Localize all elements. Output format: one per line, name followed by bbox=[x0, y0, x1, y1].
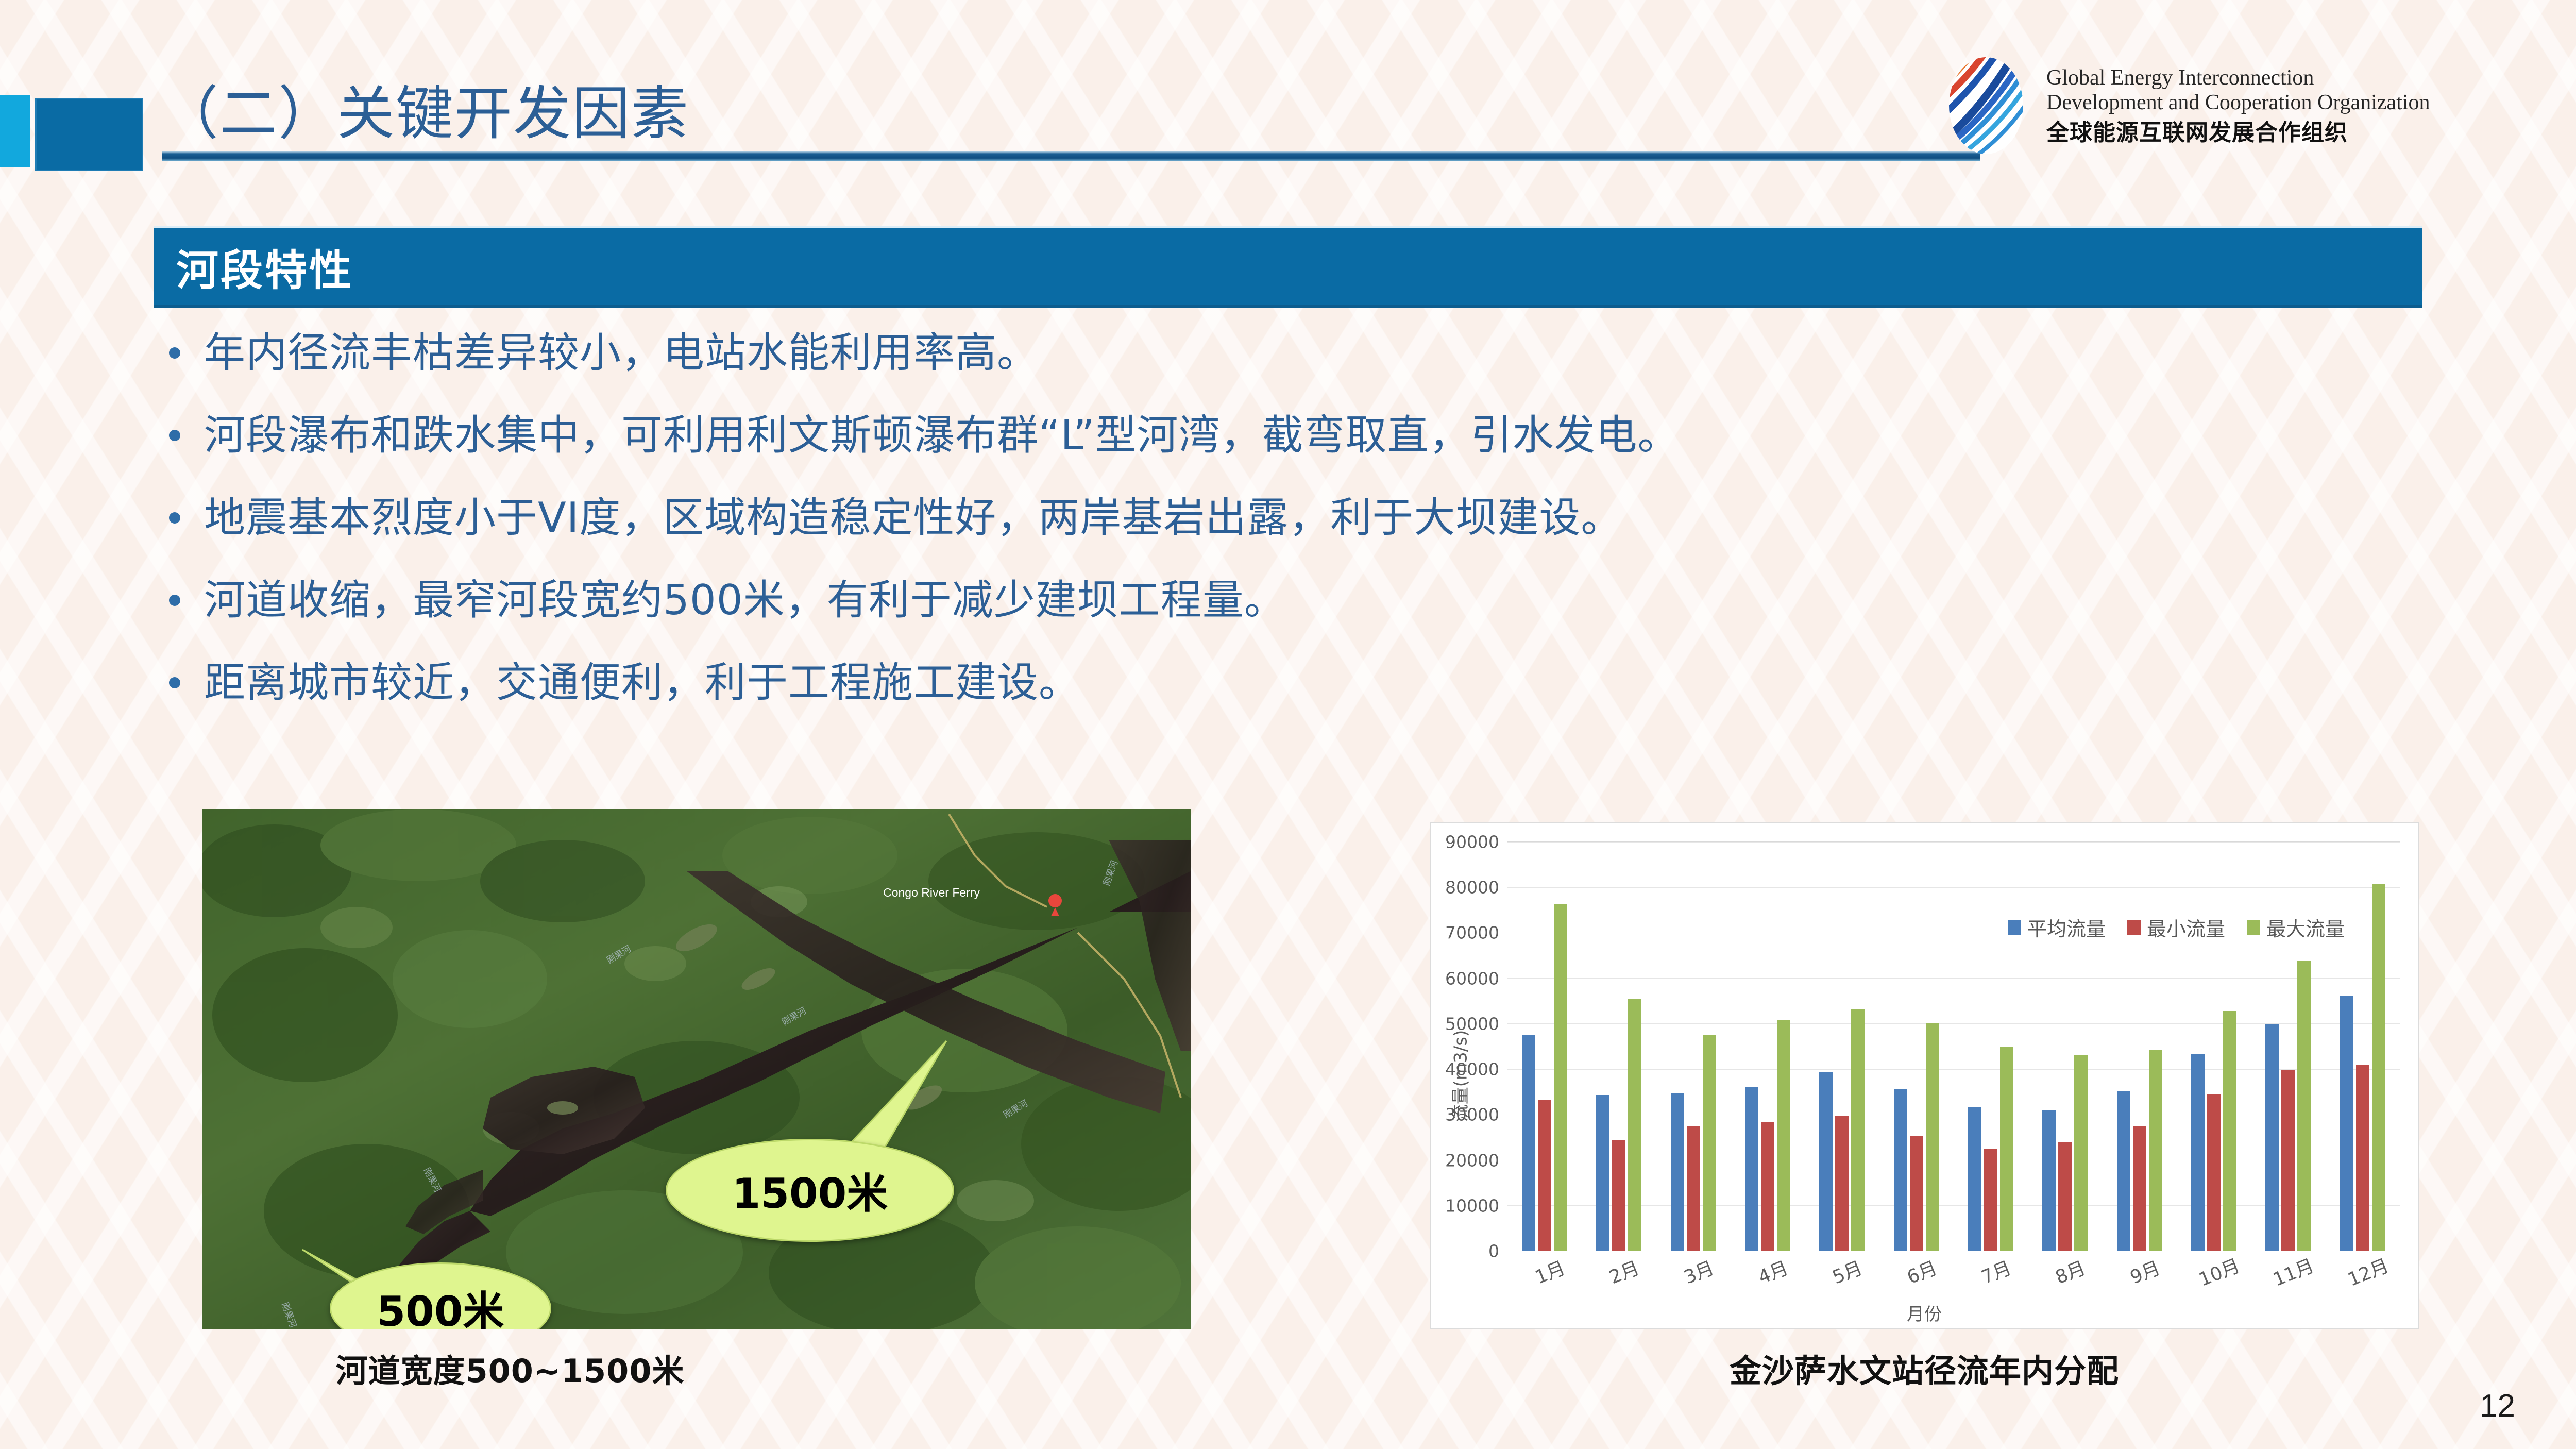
list-item: 年内径流丰枯差异较小，电站水能利用率高。 bbox=[155, 330, 2396, 412]
callout-width-1500: 1500米 bbox=[666, 1139, 954, 1242]
header-accent-blue bbox=[35, 98, 143, 171]
chart-x-tick-label: 10月 bbox=[2194, 1251, 2243, 1292]
chart-legend-swatch bbox=[2008, 920, 2021, 935]
chart-bar-max bbox=[1926, 1023, 1939, 1251]
chart-x-tick-label: 5月 bbox=[1828, 1253, 1866, 1289]
bullet-text: 地震基本烈度小于VI度，区域构造稳定性好，两岸基岩出露，利于大坝建设。 bbox=[204, 495, 1622, 541]
chart-bar-group: 3月 bbox=[1656, 842, 1731, 1251]
chart-bar-avg bbox=[1596, 1095, 1609, 1251]
chart-bar-max bbox=[2297, 961, 2311, 1251]
chart-bar-max bbox=[1703, 1035, 1716, 1251]
slide-canvas: （二）关键开发因素 bbox=[0, 0, 2576, 1449]
chart-bar-max bbox=[1554, 904, 1567, 1251]
chart-bar-group: 11月 bbox=[2251, 842, 2325, 1251]
chart-bar-group: 5月 bbox=[1805, 842, 1879, 1251]
chart-bar-avg bbox=[2042, 1110, 2056, 1251]
bullet-list: 年内径流丰枯差异较小，电站水能利用率高。 河段瀑布和跌水集中，可利用利文斯顿瀑布… bbox=[155, 330, 2396, 742]
chart-bar-avg bbox=[2191, 1054, 2205, 1251]
section-banner: 河段特性 bbox=[154, 226, 2422, 308]
chart-x-tick-label: 2月 bbox=[1605, 1253, 1643, 1289]
chart-bar-min bbox=[1910, 1136, 1923, 1251]
chart-bar-min bbox=[1761, 1122, 1774, 1251]
chart-legend-item: 平均流量 bbox=[2008, 913, 2106, 941]
chart-y-tick-label: 10000 bbox=[1445, 1195, 1507, 1216]
chart-bar-group: 9月 bbox=[2103, 842, 2177, 1251]
bullet-text: 河段瀑布和跌水集中，可利用利文斯顿瀑布群“L”型河湾，截弯取直，引水发电。 bbox=[204, 412, 1679, 459]
chart-gridline: 0 bbox=[1507, 1251, 2400, 1251]
chart-x-tick-label: 12月 bbox=[2343, 1251, 2392, 1292]
list-item: 河段瀑布和跌水集中，可利用利文斯顿瀑布群“L”型河湾，截弯取直，引水发电。 bbox=[155, 412, 2396, 495]
chart-legend-label: 最大流量 bbox=[2266, 913, 2345, 941]
chart-caption: 金沙萨水文站径流年内分配 bbox=[1730, 1345, 2119, 1391]
chart-bar-avg bbox=[1745, 1087, 1758, 1251]
chart-bar-group: 7月 bbox=[1954, 842, 2028, 1251]
chart-bar-max bbox=[2074, 1055, 2088, 1251]
photo-caption: 河道宽度500~1500米 bbox=[336, 1345, 685, 1391]
chart-y-tick-label: 80000 bbox=[1445, 878, 1507, 898]
header-accent-cyan bbox=[0, 95, 30, 167]
chart-legend-item: 最大流量 bbox=[2247, 913, 2345, 941]
list-item: 地震基本烈度小于VI度，区域构造稳定性好，两岸基岩出露，利于大坝建设。 bbox=[155, 495, 2396, 577]
chart-bar-max bbox=[2372, 884, 2385, 1251]
chart-bar-group: 4月 bbox=[1731, 842, 1805, 1251]
page-title: （二）关键开发因素 bbox=[161, 67, 689, 150]
chart-bar-avg bbox=[2265, 1024, 2279, 1251]
list-item: 河道收缩，最窄河段宽约500米，有利于减少建坝工程量。 bbox=[155, 577, 2396, 660]
globe-stripes-logo-icon bbox=[1937, 54, 2035, 157]
chart-bar-group: 8月 bbox=[2028, 842, 2102, 1251]
chart-bar-max bbox=[2000, 1047, 2013, 1251]
chart-bar-max bbox=[2149, 1050, 2162, 1251]
bullet-dot-icon bbox=[169, 347, 180, 359]
chart-y-tick-label: 40000 bbox=[1445, 1059, 1507, 1080]
chart-x-tick-label: 11月 bbox=[2269, 1251, 2318, 1292]
callout-width-1500-label: 1500米 bbox=[732, 1160, 888, 1220]
map-place-label: Congo River Ferry bbox=[883, 886, 980, 899]
chart-x-tick-label: 7月 bbox=[1977, 1253, 2015, 1289]
chart-x-tick-label: 9月 bbox=[2125, 1253, 2163, 1289]
chart-x-tick-label: 6月 bbox=[1902, 1253, 1940, 1289]
chart-y-tick-label: 90000 bbox=[1445, 832, 1507, 852]
chart-bar-max bbox=[1777, 1020, 1790, 1251]
chart-bar-max bbox=[1851, 1009, 1865, 1251]
chart-bar-avg bbox=[1671, 1093, 1684, 1251]
chart-bar-group: 2月 bbox=[1582, 842, 1656, 1251]
chart-bar-avg bbox=[1968, 1107, 1981, 1251]
chart-y-tick-label: 20000 bbox=[1445, 1150, 1507, 1170]
list-item: 距离城市较近，交通便利，利于工程施工建设。 bbox=[155, 660, 2396, 742]
bullet-dot-icon bbox=[169, 595, 180, 606]
chart-bar-max bbox=[2223, 1011, 2236, 1251]
chart-bar-min bbox=[1612, 1140, 1625, 1251]
chart-bar-groups: 1月2月3月4月5月6月7月8月9月10月11月12月 bbox=[1507, 842, 2400, 1251]
bullet-text: 距离城市较近，交通便利，利于工程施工建设。 bbox=[204, 660, 1080, 706]
chart-bar-min bbox=[2207, 1094, 2221, 1251]
chart-x-tick-label: 3月 bbox=[1680, 1253, 1718, 1289]
logo-chinese-name: 全球能源互联网发展合作组织 bbox=[2046, 120, 2430, 146]
chart-y-tick-label: 30000 bbox=[1445, 1105, 1507, 1125]
chart-x-tick-label: 1月 bbox=[1531, 1253, 1569, 1289]
bullet-text: 河道收缩，最窄河段宽约500米，有利于减少建坝工程量。 bbox=[204, 577, 1286, 624]
bullet-dot-icon bbox=[169, 677, 180, 688]
chart-bar-min bbox=[1984, 1149, 1997, 1251]
chart-bar-min bbox=[2058, 1142, 2072, 1251]
runoff-bar-chart: 流量(m3/s) 月份 0100002000030000400005000060… bbox=[1430, 822, 2419, 1329]
chart-legend-label: 平均流量 bbox=[2027, 913, 2106, 941]
chart-bar-avg bbox=[1522, 1035, 1535, 1251]
chart-plot-area: 0100002000030000400005000060000700008000… bbox=[1507, 841, 2400, 1251]
chart-x-tick-label: 4月 bbox=[1754, 1253, 1792, 1289]
chart-bar-min bbox=[2356, 1065, 2369, 1251]
chart-bar-group: 10月 bbox=[2177, 842, 2251, 1251]
page-number: 12 bbox=[2480, 1388, 2515, 1424]
chart-y-tick-label: 70000 bbox=[1445, 923, 1507, 943]
chart-bar-avg bbox=[2117, 1091, 2130, 1251]
callout-width-500-label: 500米 bbox=[377, 1278, 504, 1329]
chart-bar-group: 12月 bbox=[2326, 842, 2400, 1251]
chart-bar-group: 6月 bbox=[1879, 842, 1954, 1251]
chart-x-tick-label: 8月 bbox=[2051, 1253, 2089, 1289]
bullet-text: 年内径流丰枯差异较小，电站水能利用率高。 bbox=[204, 330, 1039, 376]
organization-logo: Global Energy Interconnection Developmen… bbox=[1937, 54, 2430, 157]
chart-bar-min bbox=[2133, 1126, 2146, 1251]
chart-bar-min bbox=[1687, 1126, 1700, 1251]
bullet-dot-icon bbox=[169, 512, 180, 524]
section-banner-title: 河段特性 bbox=[176, 236, 353, 297]
chart-legend: 平均流量最小流量最大流量 bbox=[2008, 913, 2345, 941]
chart-legend-label: 最小流量 bbox=[2147, 913, 2225, 941]
chart-legend-item: 最小流量 bbox=[2127, 913, 2225, 941]
chart-bar-min bbox=[1835, 1116, 1849, 1251]
satellite-river-image: Congo River Ferry 刚果河 刚果河 刚果河 刚果河 刚果河 刚果… bbox=[202, 809, 1191, 1329]
chart-x-axis-title: 月份 bbox=[1907, 1300, 1942, 1325]
chart-bar-min bbox=[1538, 1100, 1551, 1251]
chart-bar-avg bbox=[2340, 996, 2353, 1251]
chart-legend-swatch bbox=[2127, 920, 2141, 935]
bullet-dot-icon bbox=[169, 430, 180, 441]
satellite-image-graphic: Congo River Ferry 刚果河 刚果河 刚果河 刚果河 刚果河 刚果… bbox=[202, 809, 1191, 1329]
chart-y-tick-label: 50000 bbox=[1445, 1014, 1507, 1034]
logo-english-line-1: Global Energy Interconnection bbox=[2046, 65, 2430, 91]
logo-english-line-2: Development and Cooperation Organization bbox=[2046, 90, 2430, 115]
chart-y-tick-label: 0 bbox=[1488, 1241, 1507, 1261]
chart-bar-group: 1月 bbox=[1507, 842, 1582, 1251]
chart-legend-swatch bbox=[2247, 920, 2260, 935]
chart-y-tick-label: 60000 bbox=[1445, 968, 1507, 988]
chart-bar-avg bbox=[1819, 1072, 1833, 1251]
title-underline-rule bbox=[162, 151, 1980, 161]
chart-bar-max bbox=[1628, 999, 1641, 1251]
chart-bar-avg bbox=[1894, 1089, 1907, 1251]
chart-bar-min bbox=[2281, 1070, 2295, 1251]
